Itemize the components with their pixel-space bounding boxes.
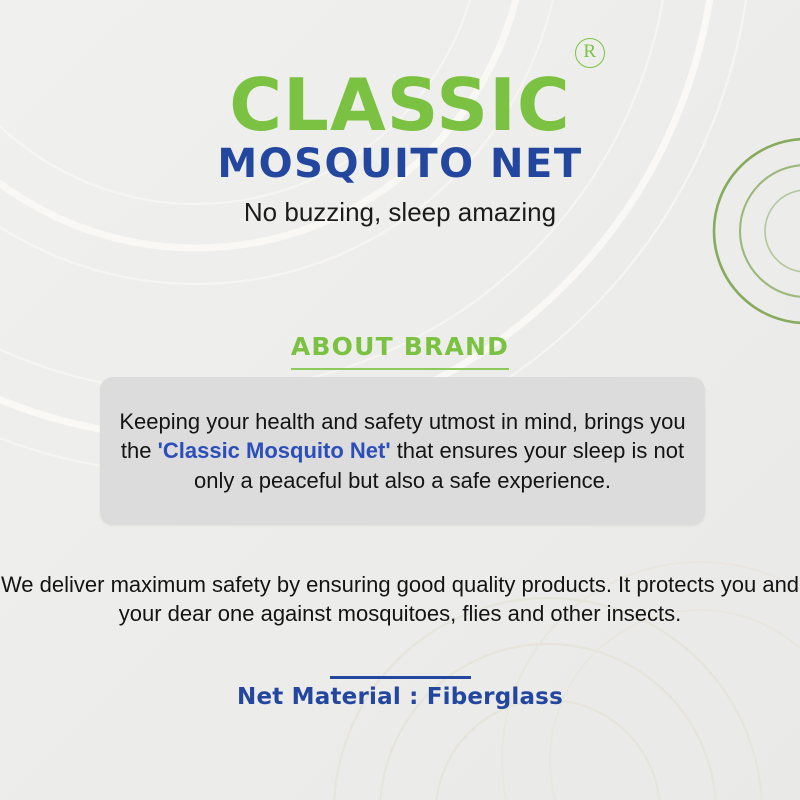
registered-trademark-icon: R xyxy=(575,38,605,68)
brand-tagline: No buzzing, sleep amazing xyxy=(0,198,800,227)
poster-content: CLASSIC R MOSQUITO NET No buzzing, sleep… xyxy=(0,0,800,800)
brand-name: CLASSIC xyxy=(229,72,571,138)
about-brand-heading: ABOUT BRAND xyxy=(291,332,509,370)
section-divider xyxy=(330,676,471,679)
about-card-highlight: 'Classic Mosquito Net' xyxy=(158,438,391,463)
about-brand-card-text: Keeping your health and safety utmost in… xyxy=(100,407,705,494)
poster-canvas: CLASSIC R MOSQUITO NET No buzzing, sleep… xyxy=(0,0,800,800)
brand-name-wrapper: CLASSIC R xyxy=(229,72,571,138)
about-heading-wrapper: ABOUT BRAND xyxy=(0,332,800,370)
brand-logo-block: CLASSIC R MOSQUITO NET No buzzing, sleep… xyxy=(0,72,800,227)
brand-description-paragraph: We deliver maximum safety by ensuring go… xyxy=(0,571,800,629)
brand-subtitle: MOSQUITO NET xyxy=(0,144,800,184)
net-material-label: Net Material : Fiberglass xyxy=(0,684,800,710)
about-brand-card: Keeping your health and safety utmost in… xyxy=(100,377,705,525)
